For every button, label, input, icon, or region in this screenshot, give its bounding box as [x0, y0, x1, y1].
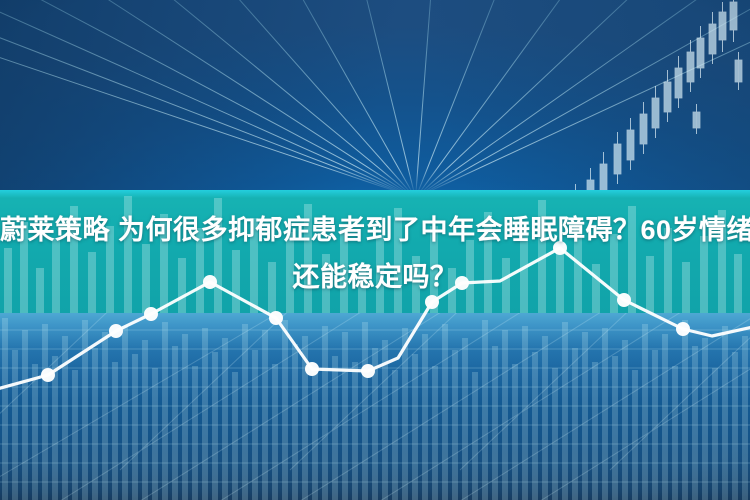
headline-line-2: 还能稳定吗？: [0, 254, 750, 301]
headline-text: 蔚莱策略 为何很多抑郁症患者到了中年会睡眠障碍？60岁情绪 还能稳定吗？: [0, 207, 750, 301]
banner-image: 蔚莱策略 为何很多抑郁症患者到了中年会睡眠障碍？60岁情绪 还能稳定吗？: [0, 0, 750, 500]
headline-line-1: 蔚莱策略 为何很多抑郁症患者到了中年会睡眠障碍？60岁情绪: [0, 207, 750, 254]
